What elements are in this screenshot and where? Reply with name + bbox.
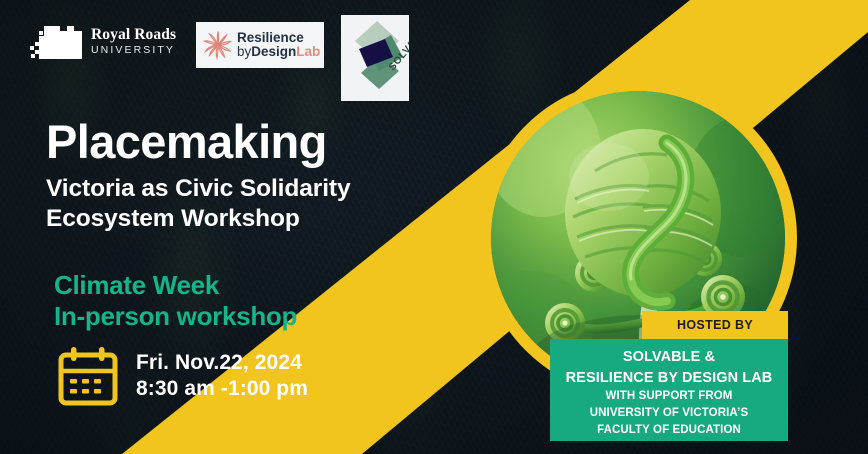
rbd-lab: Lab (296, 44, 320, 59)
rbd-line2: byDesignLab (237, 45, 320, 59)
page-title: Placemaking (46, 118, 466, 166)
rbd-design: Design (251, 44, 296, 59)
royal-roads-wordmark: Royal Roads UNIVERSITY (91, 27, 176, 56)
solvable-logo: SOLVABLE (341, 15, 409, 101)
subhead-block: Climate Week In-person workshop (54, 270, 454, 331)
host-line-2: RESILIENCE BY DESIGN LAB (566, 368, 773, 389)
event-time: 8:30 am -1:00 pm (136, 376, 308, 402)
resilience-by-design-logo: Resilience byDesignLab (196, 22, 324, 68)
rru-line2: UNIVERSITY (91, 45, 176, 56)
support-line-3: FACULTY OF EDUCATION (597, 422, 741, 439)
support-line-1: WITH SUPPORT FROM (606, 388, 733, 405)
rbd-line1: Resilience (237, 31, 320, 45)
datetime-lines: Fri. Nov.22, 2024 8:30 am -1:00 pm (136, 350, 308, 403)
rru-line1: Royal Roads (91, 27, 176, 43)
rbd-by: by (237, 44, 251, 59)
event-poster: Royal Roads UNIVERSITY Resilience byDesi… (0, 0, 868, 454)
castle-pixel-mark-icon (30, 23, 82, 59)
host-line-1: SOLVABLE & (623, 347, 715, 368)
rbd-wordmark: Resilience byDesignLab (237, 31, 320, 59)
subhead-line-1: Climate Week (54, 270, 454, 301)
subtitle-line-1: Victoria as Civic Solidarity (46, 174, 466, 204)
support-line-2: UNIVERSITY OF VICTORIA’S (590, 405, 749, 422)
event-date: Fri. Nov.22, 2024 (136, 350, 308, 376)
diamond-stack-icon: SOLVABLE (341, 15, 409, 101)
flower-burst-icon (203, 30, 233, 60)
subtitle-line-2: Ecosystem Workshop (46, 204, 466, 234)
royal-roads-logo: Royal Roads UNIVERSITY (30, 23, 176, 59)
datetime-block: Fri. Nov.22, 2024 8:30 am -1:00 pm (57, 345, 308, 407)
calendar-icon (57, 345, 119, 407)
hosted-by-strip: HOSTED BY (642, 311, 788, 339)
hosted-by-label: HOSTED BY (677, 318, 753, 332)
headline-block: Placemaking Victoria as Civic Solidarity… (46, 118, 466, 234)
hosted-by-box: SOLVABLE & RESILIENCE BY DESIGN LAB WITH… (550, 339, 788, 441)
subhead-line-2: In-person workshop (54, 301, 454, 332)
